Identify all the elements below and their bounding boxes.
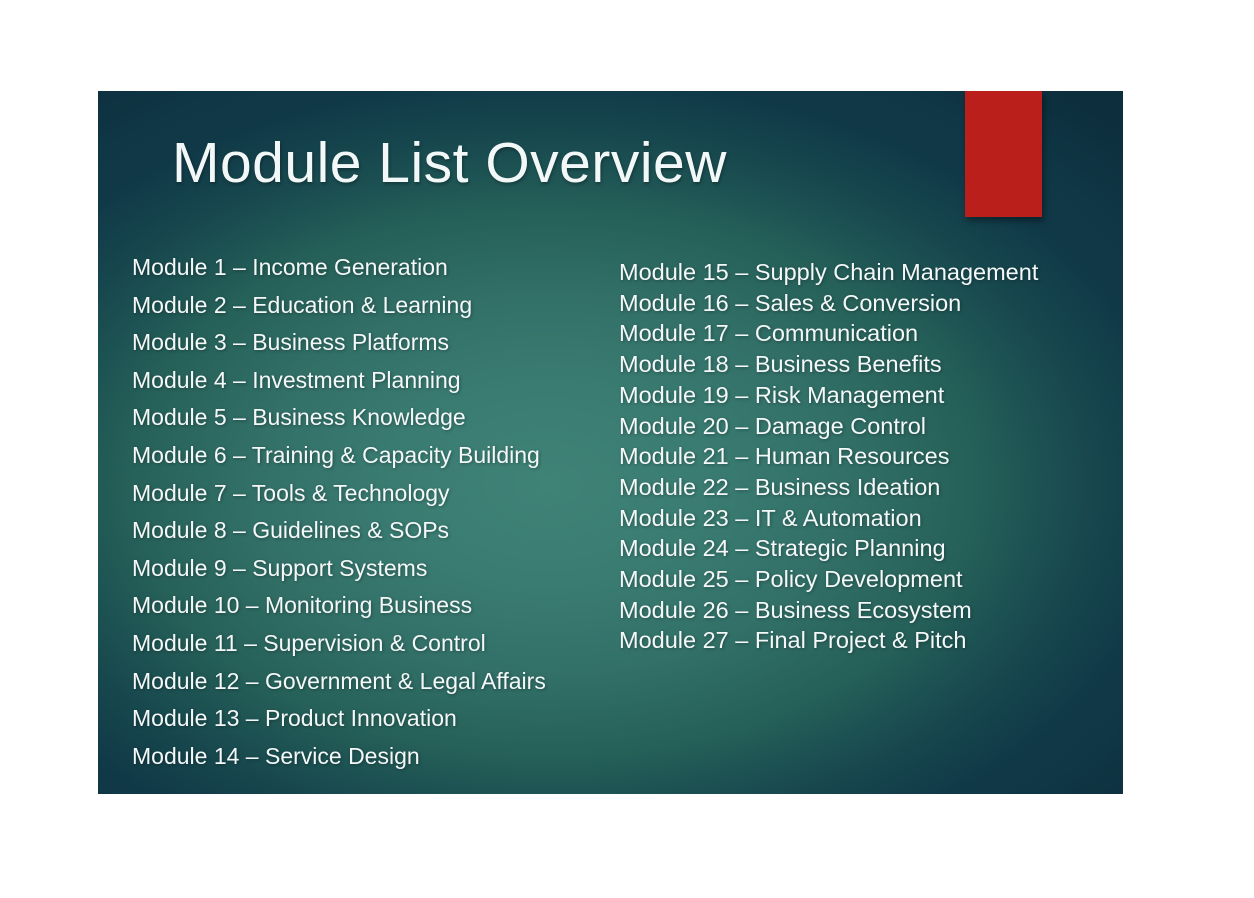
module-list-item-3: Module 3 – Business Platforms	[132, 324, 652, 362]
module-list-item-5: Module 5 – Business Knowledge	[132, 399, 652, 437]
module-list-item-13: Module 13 – Product Innovation	[132, 700, 652, 738]
module-list-item-4: Module 18 – Business Benefits	[619, 349, 1123, 380]
module-list-item-12: Module 26 – Business Ecosystem	[619, 595, 1123, 626]
module-list-item-6: Module 20 – Damage Control	[619, 411, 1123, 442]
slide-canvas: Module List Overview Module 1 – Income G…	[0, 0, 1254, 898]
module-list-item-4: Module 4 – Investment Planning	[132, 362, 652, 400]
module-list-item-13: Module 27 – Final Project & Pitch	[619, 625, 1123, 656]
presentation-slide: Module List Overview Module 1 – Income G…	[98, 91, 1123, 794]
module-list-item-11: Module 25 – Policy Development	[619, 564, 1123, 595]
module-list-item-8: Module 22 – Business Ideation	[619, 472, 1123, 503]
module-list-item-8: Module 8 – Guidelines & SOPs	[132, 512, 652, 550]
module-list-item-10: Module 24 – Strategic Planning	[619, 533, 1123, 564]
module-list-item-9: Module 9 – Support Systems	[132, 550, 652, 588]
module-column-left: Module 1 – Income GenerationModule 2 – E…	[132, 249, 652, 775]
module-list-item-6: Module 6 – Training & Capacity Building	[132, 437, 652, 475]
module-list-item-9: Module 23 – IT & Automation	[619, 503, 1123, 534]
module-list-item-7: Module 7 – Tools & Technology	[132, 475, 652, 513]
module-list-item-12: Module 12 – Government & Legal Affairs	[132, 663, 652, 701]
module-list-item-11: Module 11 – Supervision & Control	[132, 625, 652, 663]
module-list-item-1: Module 1 – Income Generation	[132, 249, 652, 287]
module-list-item-2: Module 16 – Sales & Conversion	[619, 288, 1123, 319]
module-list-item-10: Module 10 – Monitoring Business	[132, 587, 652, 625]
module-list-item-5: Module 19 – Risk Management	[619, 380, 1123, 411]
module-list-item-2: Module 2 – Education & Learning	[132, 287, 652, 325]
module-list-item-14: Module 14 – Service Design	[132, 738, 652, 776]
module-list-item-1: Module 15 – Supply Chain Management	[619, 257, 1123, 288]
module-list-item-7: Module 21 – Human Resources	[619, 441, 1123, 472]
module-list: Module 1 – Income GenerationModule 2 – E…	[98, 91, 1123, 794]
module-column-right: Module 15 – Supply Chain ManagementModul…	[619, 257, 1123, 656]
module-list-item-3: Module 17 – Communication	[619, 318, 1123, 349]
